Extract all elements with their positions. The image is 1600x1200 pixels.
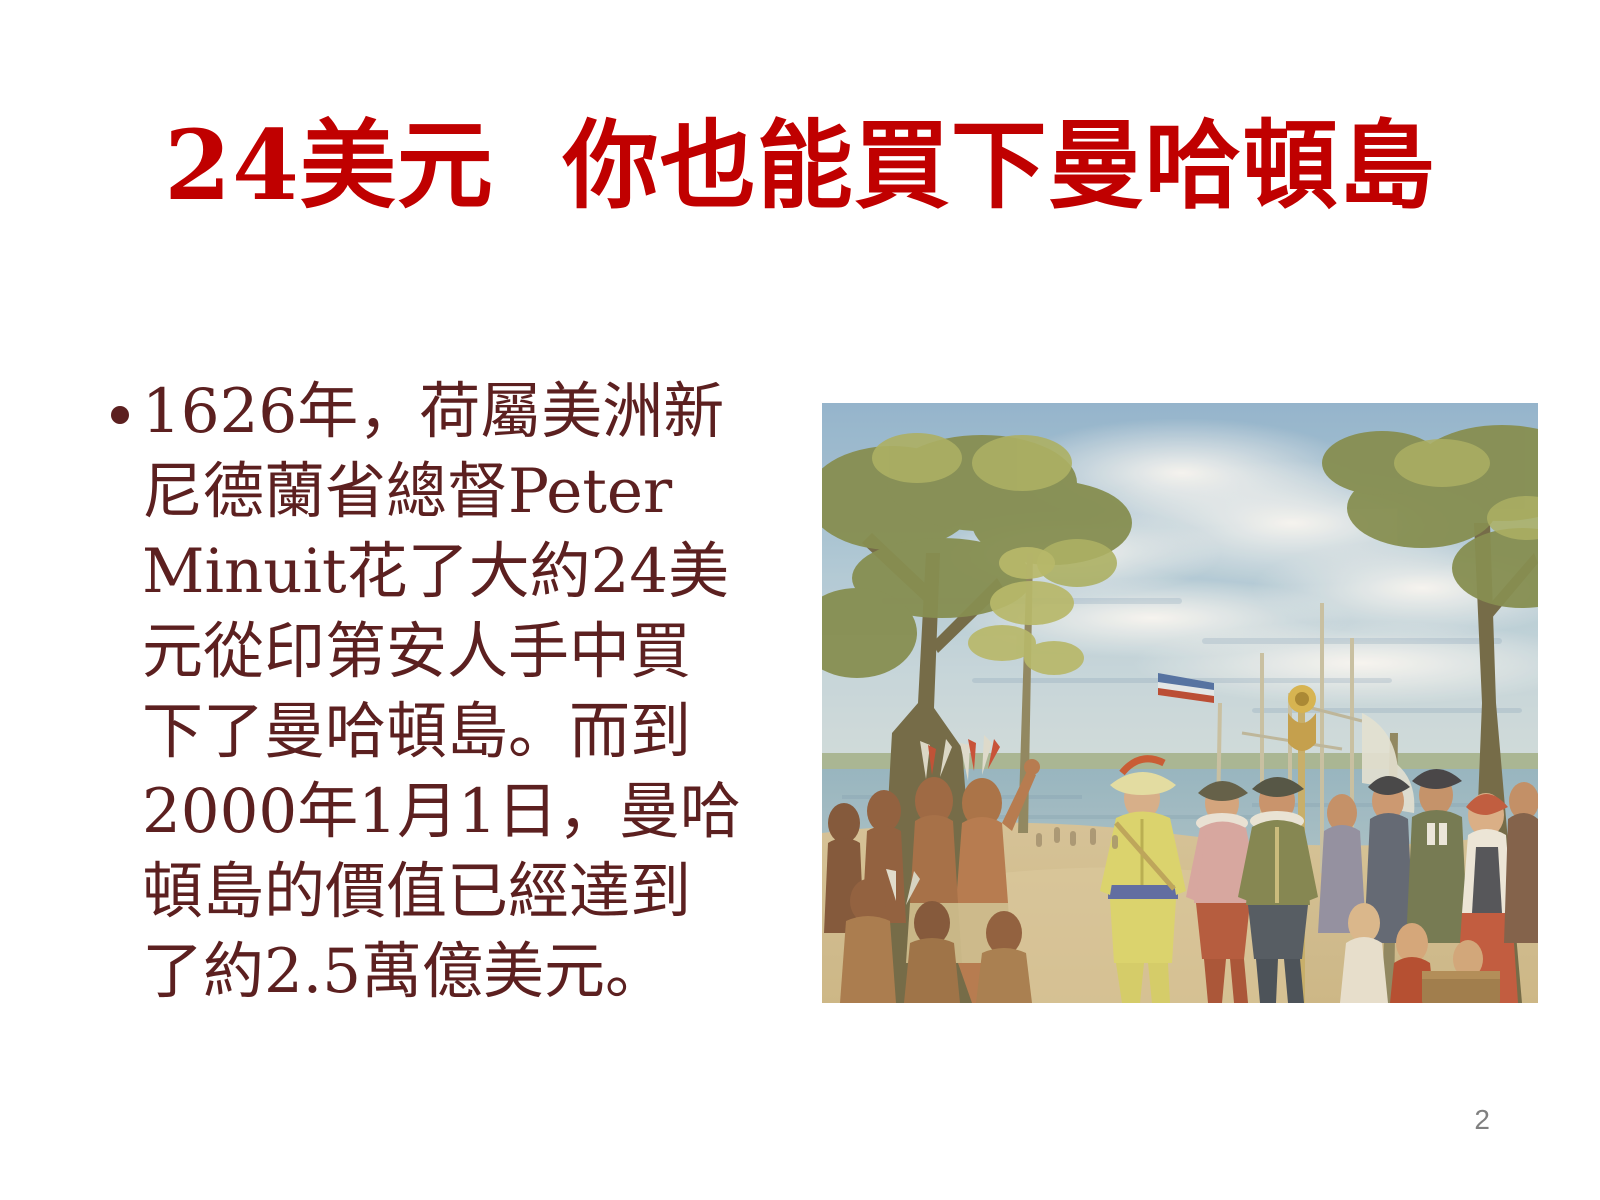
page-title: 24美元 你也能買下曼哈頓島 bbox=[0, 118, 1600, 214]
slide-canvas: 24美元 你也能買下曼哈頓島 1626年，荷屬美洲新 尼德蘭省總督Peter M… bbox=[0, 0, 1600, 1200]
bullet-item-text: 1626年，荷屬美洲新 尼德蘭省總督Peter Minuit花了大約24美 元從… bbox=[142, 372, 828, 1012]
painting-artwork bbox=[822, 403, 1538, 1003]
bullet-marker-icon bbox=[98, 372, 142, 450]
body-text-block: 1626年，荷屬美洲新 尼德蘭省總督Peter Minuit花了大約24美 元從… bbox=[98, 372, 828, 1012]
page-number: 2 bbox=[1474, 1104, 1490, 1136]
purchase-of-manhattan-painting bbox=[822, 403, 1538, 1003]
bullet-list-item: 1626年，荷屬美洲新 尼德蘭省總督Peter Minuit花了大約24美 元從… bbox=[98, 372, 828, 1012]
